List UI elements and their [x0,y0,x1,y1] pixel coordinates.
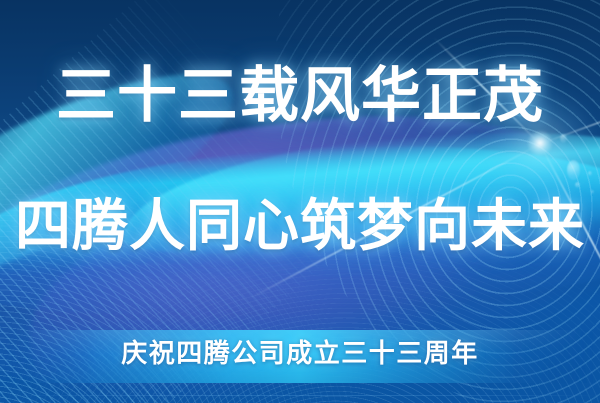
headline-line-2: 四腾人同心筑梦向未来 [0,198,600,254]
bokeh-circle-icon [591,190,594,194]
bokeh-circle-icon [560,134,567,143]
headline-line-2-container: 四腾人同心筑梦向未来 [0,198,600,254]
subtitle-text: 庆祝四腾公司成立三十三周年 [0,341,600,367]
bottom-divider [0,395,600,396]
anniversary-poster: 三十三载风华正茂 四腾人同心筑梦向未来 庆祝四腾公司成立三十三周年 [0,0,600,403]
bokeh-circle-icon [567,160,580,180]
bokeh-circle-icon [588,171,592,176]
headline-line-1-container: 三十三载风华正茂 [0,66,600,126]
headline-line-1: 三十三载风华正茂 [0,66,600,126]
bokeh-circle-icon [575,182,580,188]
lens-flare-core-icon [527,130,553,156]
